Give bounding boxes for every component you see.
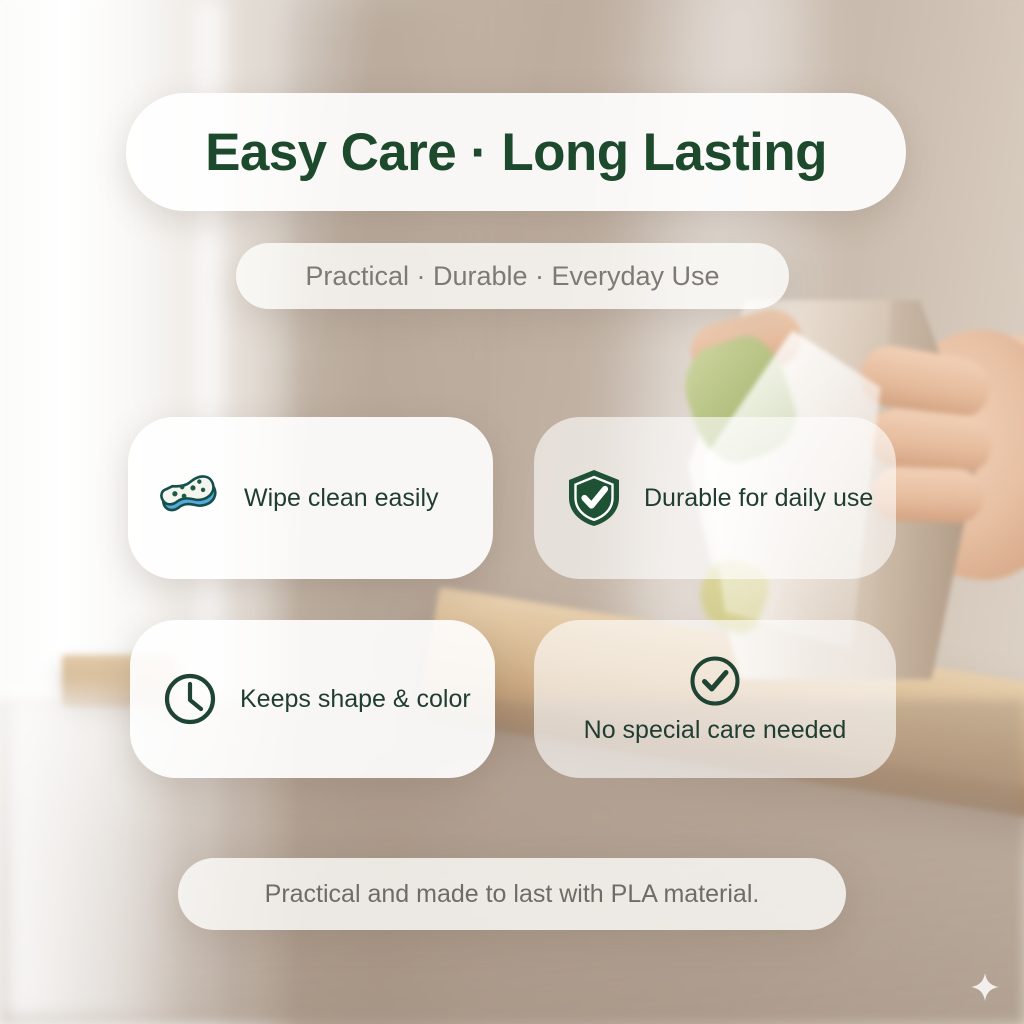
footer-pill: Practical and made to last with PLA mate… xyxy=(178,858,846,930)
promo-graphic: Easy Care · Long Lasting Practical · Dur… xyxy=(0,0,1024,1024)
feature-card-durable[interactable]: Durable for daily use xyxy=(534,417,896,579)
feature-card-wipe-clean[interactable]: Wipe clean easily xyxy=(128,417,493,579)
feature-label: Keeps shape & color xyxy=(240,685,471,714)
feature-label: No special care needed xyxy=(584,716,847,745)
footer-caption: Practical and made to last with PLA mate… xyxy=(265,880,760,909)
page-subtitle: Practical · Durable · Everyday Use xyxy=(305,261,719,292)
overlay-ui: Easy Care · Long Lasting Practical · Dur… xyxy=(0,0,1024,1024)
shield-check-icon xyxy=(566,468,622,528)
clock-icon xyxy=(162,671,218,727)
feature-card-no-special-care[interactable]: No special care needed xyxy=(534,620,896,778)
subtitle-pill: Practical · Durable · Everyday Use xyxy=(236,243,789,309)
sparkle-icon xyxy=(970,972,1000,1002)
page-title: Easy Care · Long Lasting xyxy=(205,122,827,183)
feature-label: Durable for daily use xyxy=(644,484,873,513)
feature-card-keeps-shape[interactable]: Keeps shape & color xyxy=(130,620,495,778)
title-pill: Easy Care · Long Lasting xyxy=(126,93,906,211)
sponge-icon xyxy=(160,472,222,524)
check-circle-icon xyxy=(688,654,742,708)
feature-label: Wipe clean easily xyxy=(244,484,439,513)
